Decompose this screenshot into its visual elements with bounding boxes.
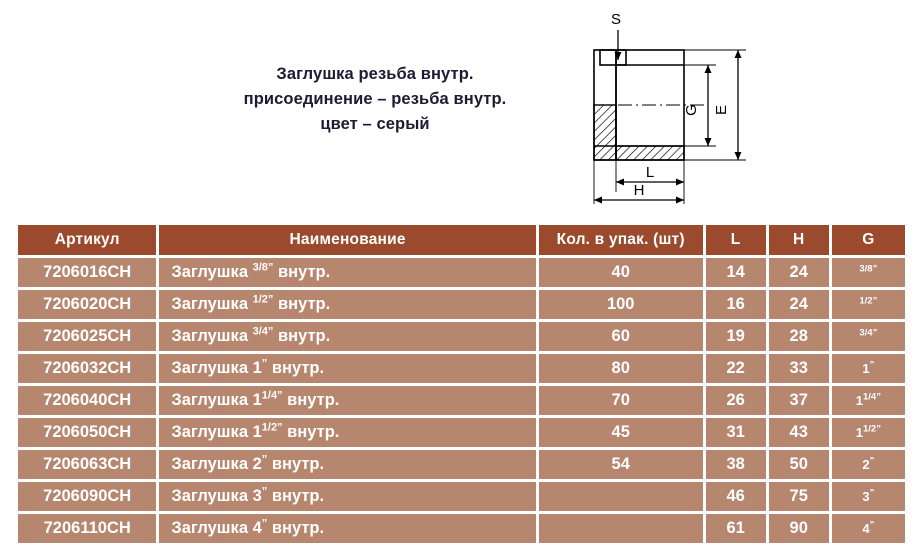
table-row: 7206110СНЗаглушка 4” внутр.61904” <box>18 514 905 546</box>
cell-article: 7206016СН <box>18 258 159 290</box>
table-row: 7206050СНЗаглушка 11/2” внутр.45314311/2… <box>18 418 905 450</box>
name-suffix: внутр. <box>267 519 324 537</box>
table-header: Артикул Наименование Кол. в упак. (шт) L… <box>18 225 905 258</box>
name-prefix: Заглушка 1 <box>171 391 261 409</box>
cell-g: 1/2” <box>832 290 905 322</box>
name-prefix: Заглушка 3 <box>171 487 261 505</box>
cell-article: 7206040СН <box>18 386 159 418</box>
dimension-label-l: L <box>646 164 654 181</box>
cell-qty: 60 <box>539 322 706 354</box>
cell-l: 16 <box>706 290 769 322</box>
name-prefix: Заглушка 2 <box>171 455 261 473</box>
cell-article: 7206063СН <box>18 450 159 482</box>
g-fraction: ” <box>870 488 875 499</box>
name-fraction: 3/4” <box>253 326 274 338</box>
cell-name: Заглушка 2” внутр. <box>159 450 538 482</box>
cell-article: 7206110СН <box>18 514 159 546</box>
g-base: 4 <box>862 521 869 536</box>
cell-g: 11/2” <box>832 418 905 450</box>
cell-article: 7206032СН <box>18 354 159 386</box>
cell-g: 3/4” <box>832 322 905 354</box>
cell-h: 24 <box>769 258 832 290</box>
g-fraction: 3/8” <box>859 264 877 275</box>
table-row: 7206016СНЗаглушка 3/8” внутр.4014243/8” <box>18 258 905 290</box>
cell-h: 50 <box>769 450 832 482</box>
cell-g: 4” <box>832 514 905 546</box>
table-row: 7206090СНЗаглушка 3” внутр.46753” <box>18 482 905 514</box>
table-row: 7206032СНЗаглушка 1” внутр.8022331” <box>18 354 905 386</box>
cell-g: 2” <box>832 450 905 482</box>
name-prefix: Заглушка 4 <box>171 519 261 537</box>
g-fraction: ” <box>870 360 875 371</box>
cell-qty <box>539 514 706 546</box>
name-prefix: Заглушка <box>171 295 252 313</box>
cell-l: 14 <box>706 258 769 290</box>
column-header-qty: Кол. в упак. (шт) <box>539 225 706 258</box>
cell-name: Заглушка 4” внутр. <box>159 514 538 546</box>
product-title-line-3: цвет – серый <box>180 112 570 137</box>
g-base: 1 <box>862 361 869 376</box>
cell-g: 3” <box>832 482 905 514</box>
table-body: 7206016СНЗаглушка 3/8” внутр.4014243/8”7… <box>18 258 905 546</box>
cell-name: Заглушка 3/4” внутр. <box>159 322 538 354</box>
name-suffix: внутр. <box>273 263 330 281</box>
cell-article: 7206025СН <box>18 322 159 354</box>
cell-name: Заглушка 11/4” внутр. <box>159 386 538 418</box>
cell-article: 7206050СН <box>18 418 159 450</box>
cell-name: Заглушка 1” внутр. <box>159 354 538 386</box>
name-suffix: внутр. <box>283 423 340 441</box>
product-title-block: Заглушка резьба внутр. присоединение – р… <box>180 62 570 137</box>
dimension-label-g: G <box>683 104 700 116</box>
g-fraction: 1/4” <box>863 392 881 403</box>
name-fraction: 3/8” <box>253 262 274 274</box>
cell-qty: 70 <box>539 386 706 418</box>
name-prefix: Заглушка <box>171 263 252 281</box>
name-suffix: внутр. <box>267 487 324 505</box>
product-spec-table: Артикул Наименование Кол. в упак. (шт) L… <box>18 225 905 546</box>
name-fraction: 1/2” <box>253 294 274 306</box>
cell-name: Заглушка 3” внутр. <box>159 482 538 514</box>
cell-name: Заглушка 11/2” внутр. <box>159 418 538 450</box>
cell-qty: 45 <box>539 418 706 450</box>
name-prefix: Заглушка 1 <box>171 359 261 377</box>
name-suffix: внутр. <box>283 391 340 409</box>
g-fraction: 1/2” <box>863 424 881 435</box>
column-header-name: Наименование <box>159 225 538 258</box>
g-fraction: 3/4” <box>859 328 877 339</box>
cell-qty: 40 <box>539 258 706 290</box>
column-header-l: L <box>706 225 769 258</box>
cell-article: 7206020СН <box>18 290 159 322</box>
name-suffix: внутр. <box>267 359 324 377</box>
g-base: 2 <box>862 457 869 472</box>
cell-g: 1” <box>832 354 905 386</box>
cell-h: 24 <box>769 290 832 322</box>
name-suffix: внутр. <box>267 455 324 473</box>
name-suffix: внутр. <box>273 327 330 345</box>
g-base: 1 <box>856 393 863 408</box>
cell-l: 22 <box>706 354 769 386</box>
cell-qty: 100 <box>539 290 706 322</box>
cell-l: 19 <box>706 322 769 354</box>
g-base: 1 <box>856 425 863 440</box>
cell-qty <box>539 482 706 514</box>
dimension-label-h: H <box>634 182 645 199</box>
name-prefix: Заглушка <box>171 327 252 345</box>
column-header-article: Артикул <box>18 225 159 258</box>
cell-h: 28 <box>769 322 832 354</box>
cell-h: 75 <box>769 482 832 514</box>
cell-l: 38 <box>706 450 769 482</box>
cell-name: Заглушка 3/8” внутр. <box>159 258 538 290</box>
name-suffix: внутр. <box>273 295 330 313</box>
cell-qty: 54 <box>539 450 706 482</box>
cell-l: 61 <box>706 514 769 546</box>
product-title-line-1: Заглушка резьба внутр. <box>180 62 570 87</box>
table-header-row: Артикул Наименование Кол. в упак. (шт) L… <box>18 225 905 258</box>
g-fraction: 1/2” <box>859 296 877 307</box>
g-base: 3 <box>862 489 869 504</box>
cell-name: Заглушка 1/2” внутр. <box>159 290 538 322</box>
cell-g: 3/8” <box>832 258 905 290</box>
g-fraction: ” <box>870 520 875 531</box>
table-row: 7206020СНЗаглушка 1/2” внутр.10016241/2” <box>18 290 905 322</box>
cell-l: 31 <box>706 418 769 450</box>
table-row: 7206063СНЗаглушка 2” внутр.5438502” <box>18 450 905 482</box>
cell-h: 90 <box>769 514 832 546</box>
cell-h: 43 <box>769 418 832 450</box>
product-title-line-2: присоединение – резьба внутр. <box>180 87 570 112</box>
column-header-h: H <box>769 225 832 258</box>
cell-l: 26 <box>706 386 769 418</box>
cell-qty: 80 <box>539 354 706 386</box>
g-fraction: ” <box>870 456 875 467</box>
cell-h: 37 <box>769 386 832 418</box>
name-fraction: 1/2” <box>262 422 283 434</box>
cell-article: 7206090СН <box>18 482 159 514</box>
dimension-label-s: S <box>611 11 621 28</box>
cell-l: 46 <box>706 482 769 514</box>
cell-h: 33 <box>769 354 832 386</box>
table-row: 7206025СНЗаглушка 3/4” внутр.6019283/4” <box>18 322 905 354</box>
table-row: 7206040СНЗаглушка 11/4” внутр.70263711/4… <box>18 386 905 418</box>
name-fraction: 1/4” <box>262 390 283 402</box>
column-header-g: G <box>832 225 905 258</box>
name-prefix: Заглушка 1 <box>171 423 261 441</box>
technical-drawing: S G E L H <box>556 8 766 208</box>
dimension-label-e: E <box>713 105 730 115</box>
plug-cross-section-svg: S G E L H <box>556 8 766 208</box>
cell-g: 11/4” <box>832 386 905 418</box>
